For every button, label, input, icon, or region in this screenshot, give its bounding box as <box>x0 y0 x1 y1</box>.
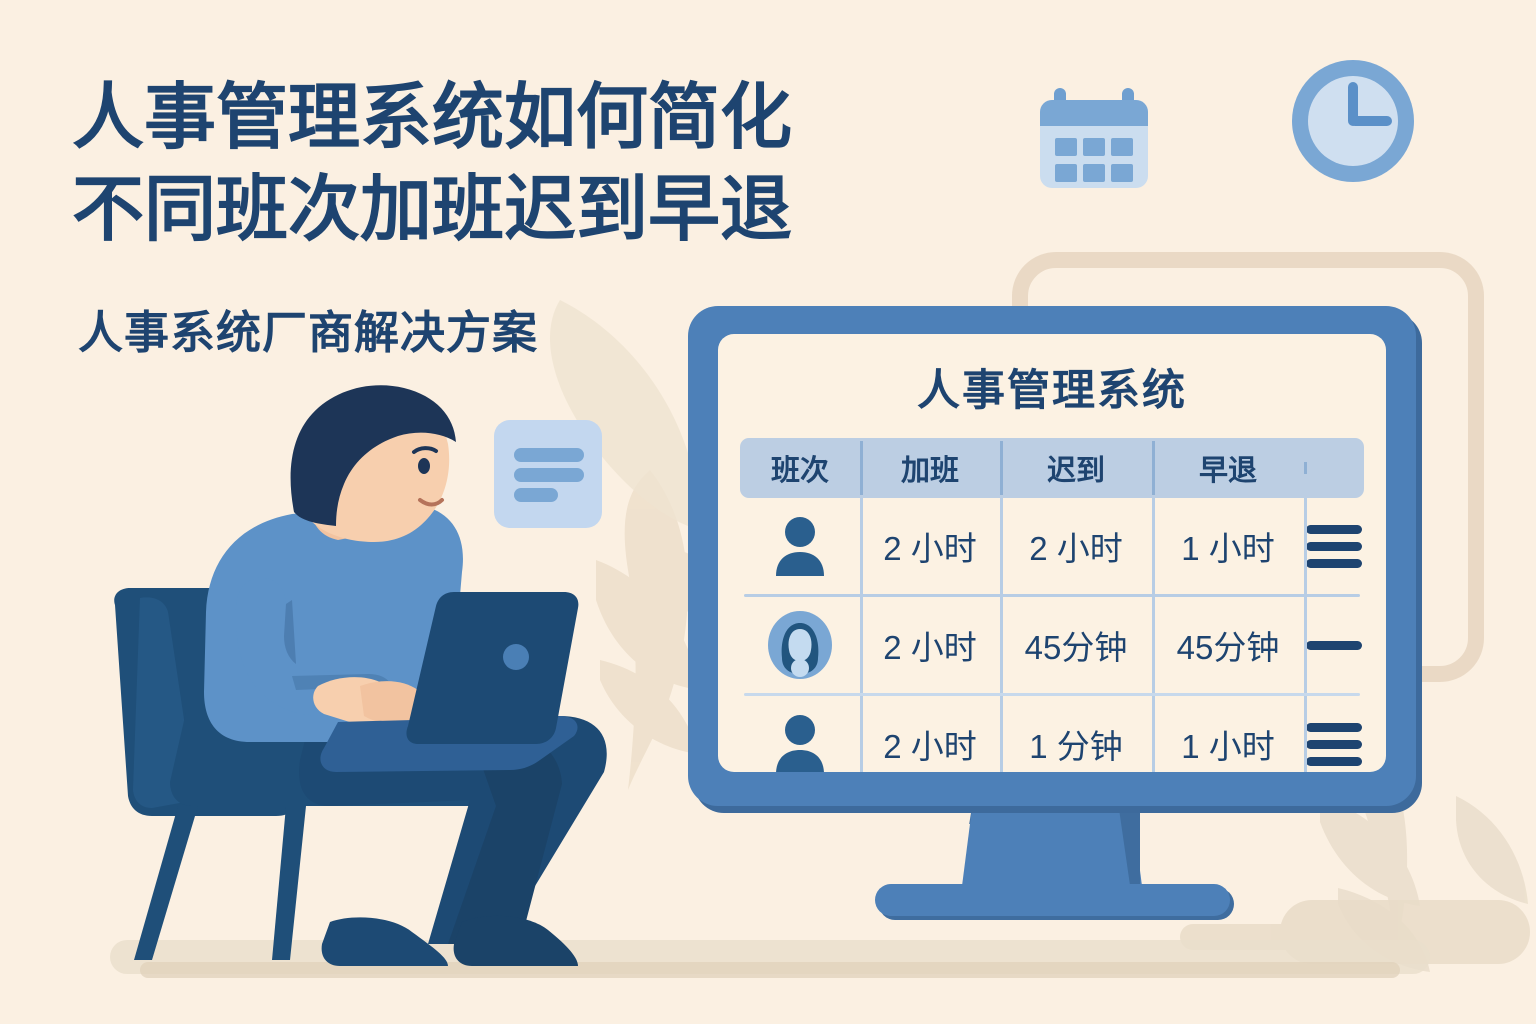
table-row[interactable]: 2 小时 45分钟 45分钟 <box>740 597 1364 693</box>
cell-late: 1 分钟 <box>1000 696 1152 772</box>
column-header-late: 迟到 <box>1000 447 1152 489</box>
hamburger-menu-icon[interactable] <box>1306 723 1362 766</box>
cell-avatar <box>740 696 860 772</box>
cell-overtime: 2 小时 <box>860 696 1000 772</box>
cell-overtime: 2 小时 <box>860 498 1000 594</box>
cell-late: 2 小时 <box>1000 498 1152 594</box>
column-header-overtime: 加班 <box>860 447 1000 489</box>
cell-avatar <box>740 597 860 693</box>
user-avatar-male-icon <box>740 714 860 772</box>
cell-actions[interactable] <box>1304 696 1364 772</box>
user-avatar-female-icon <box>740 610 860 680</box>
cell-actions[interactable] <box>1304 498 1364 594</box>
table-header-row: 班次 加班 迟到 早退 <box>740 438 1364 498</box>
cell-avatar <box>740 498 860 594</box>
column-header-shift: 班次 <box>740 447 860 489</box>
user-avatar-male-icon <box>740 516 860 576</box>
cell-late: 45分钟 <box>1000 597 1152 693</box>
column-header-early-leave: 早退 <box>1152 447 1304 489</box>
cell-early-leave: 45分钟 <box>1152 597 1304 693</box>
cell-actions[interactable] <box>1304 597 1364 693</box>
monitor-screen: 人事管理系统 班次 加班 迟到 早退 <box>718 334 1386 772</box>
monitor-stand-neck <box>962 802 1142 886</box>
single-line-icon[interactable] <box>1306 641 1362 650</box>
poster-canvas: 人事管理系统如何简化 不同班次加班迟到早退 人事系统厂商解决方案 <box>0 0 1536 1024</box>
monitor-stand-base <box>875 884 1230 916</box>
cell-early-leave: 1 小时 <box>1152 498 1304 594</box>
hamburger-menu-icon[interactable] <box>1306 525 1362 568</box>
table-row[interactable]: 2 小时 2 小时 1 小时 <box>740 498 1364 594</box>
attendance-table: 班次 加班 迟到 早退 <box>740 438 1364 772</box>
cell-overtime: 2 小时 <box>860 597 1000 693</box>
screen-app-title: 人事管理系统 <box>718 356 1386 418</box>
monitor: 人事管理系统 班次 加班 迟到 早退 <box>688 306 1416 806</box>
table-row[interactable]: 2 小时 1 分钟 1 小时 <box>740 696 1364 772</box>
cell-early-leave: 1 小时 <box>1152 696 1304 772</box>
